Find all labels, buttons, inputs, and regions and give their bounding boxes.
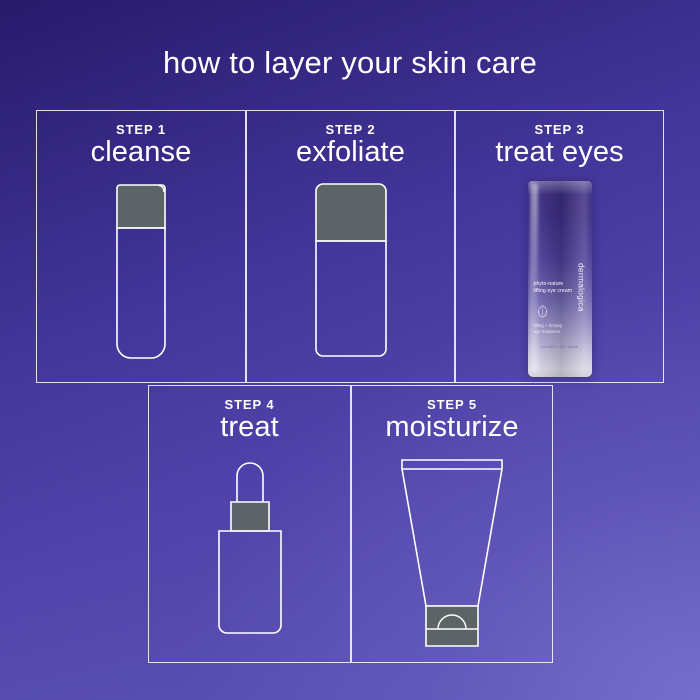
- bottle-gloss: [532, 184, 538, 371]
- step-art-4: [149, 454, 350, 662]
- step-cell-treat[interactable]: STEP 4 treat: [148, 385, 351, 663]
- step-cell-treat-eyes[interactable]: STEP 3 treat eyes dermalogica phyto-natu…: [455, 110, 664, 383]
- step-cell-cleanse[interactable]: STEP 1 cleanse: [36, 110, 246, 383]
- step-cell-exfoliate[interactable]: STEP 2 exfoliate: [246, 110, 455, 383]
- dropper-serum-bottle-icon: [207, 454, 293, 644]
- step-name-1: cleanse: [37, 136, 245, 169]
- step-name-3: treat eyes: [456, 136, 663, 169]
- step-number-5: STEP 5: [352, 397, 552, 412]
- step-name-2: exfoliate: [247, 136, 454, 169]
- eye-cream-bottle-photo: dermalogica phyto-nature lifting eye cre…: [528, 181, 592, 377]
- descriptor-line-1: lifting + firming: [534, 323, 562, 328]
- step-art-5: [352, 454, 552, 662]
- moisturizer-tube-icon: [396, 454, 508, 654]
- page-title: how to layer your skin care: [0, 45, 700, 81]
- skincare-layering-poster: how to layer your skin care STEP 1 clean…: [0, 0, 700, 700]
- leaf-emblem-icon: [537, 305, 548, 318]
- step-cell-moisturize[interactable]: STEP 5 moisturize: [351, 385, 553, 663]
- step-number-2: STEP 2: [247, 122, 454, 137]
- product-name-line-2: lifting eye cream: [534, 288, 573, 294]
- step-art-2: [247, 179, 454, 382]
- step-name-5: moisturize: [352, 411, 552, 444]
- product-brand-label: dermalogica: [577, 263, 587, 312]
- cleanser-bottle-icon: [109, 179, 173, 369]
- step-number-4: STEP 4: [149, 397, 350, 412]
- step-art-3: dermalogica phyto-nature lifting eye cre…: [456, 179, 663, 382]
- step-art-1: [37, 179, 245, 382]
- product-name-label: phyto-nature lifting eye cream: [534, 281, 573, 295]
- exfoliant-bottle-icon: [314, 179, 388, 369]
- product-name-line-1: phyto-nature: [534, 281, 564, 287]
- product-volume-label: 0.5 US FL OZ / 15 mL: [542, 345, 579, 350]
- descriptor-line-2: eye treatment: [534, 329, 561, 334]
- step-name-4: treat: [149, 411, 350, 444]
- step-number-3: STEP 3: [456, 122, 663, 137]
- step-number-1: STEP 1: [37, 122, 245, 137]
- product-descriptor-label: lifting + firming eye treatment: [534, 323, 562, 334]
